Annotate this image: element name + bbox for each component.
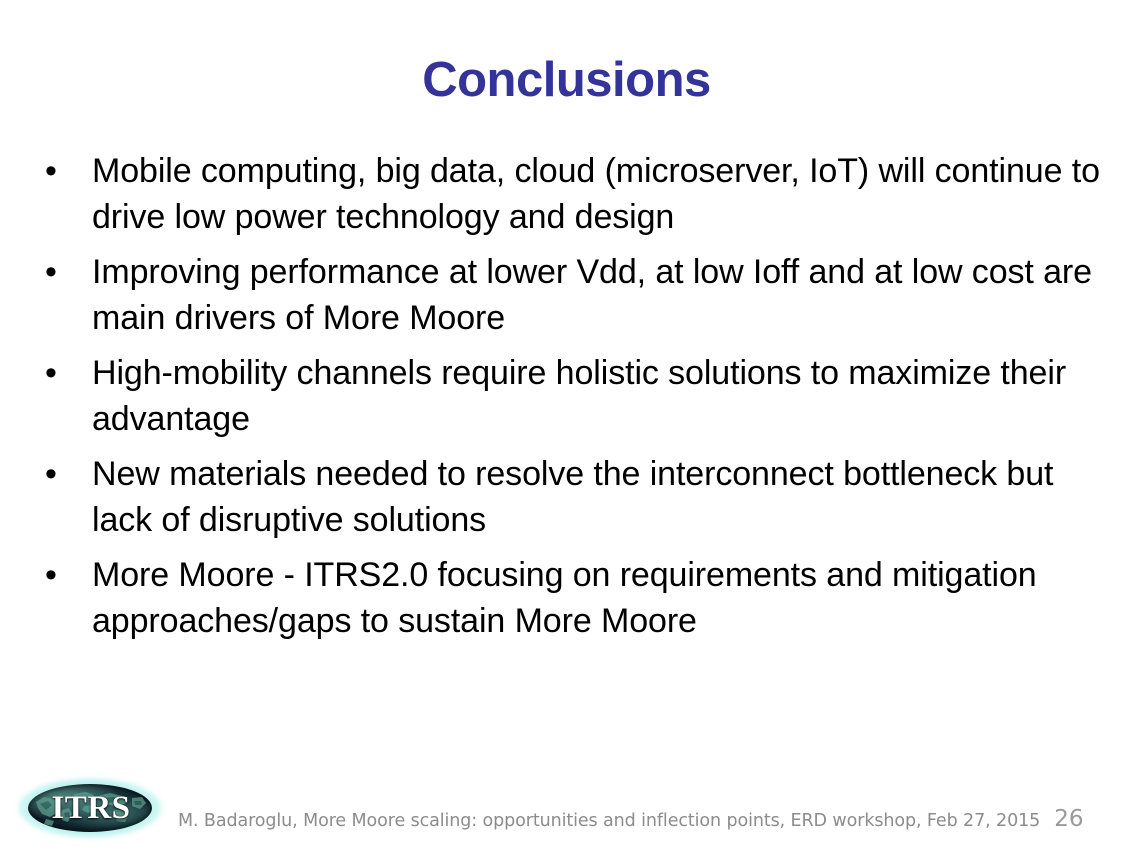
bullet-point-icon: • xyxy=(45,350,65,396)
list-item-text: High-mobility channels require holistic … xyxy=(92,350,1106,442)
bullet-point-icon: • xyxy=(45,249,65,295)
page-number: 26 xyxy=(1054,806,1083,832)
list-item-text: More Moore - ITRS2.0 focusing on require… xyxy=(92,552,1106,644)
bullet-point-icon: • xyxy=(45,451,65,497)
list-item-text: Improving performance at lower Vdd, at l… xyxy=(92,249,1106,341)
logo-text: ITRS xyxy=(14,784,166,832)
list-item-text: New materials needed to resolve the inte… xyxy=(92,451,1106,543)
list-item-text: Mobile computing, big data, cloud (micro… xyxy=(92,148,1106,240)
slide: Conclusions • Mobile computing, big data… xyxy=(0,0,1133,850)
itrs-logo: ITRS xyxy=(14,775,166,841)
list-item: • More Moore - ITRS2.0 focusing on requi… xyxy=(36,552,1106,644)
footer: M. Badaroglu, More Moore scaling: opport… xyxy=(178,806,1083,832)
bullet-point-icon: • xyxy=(45,148,65,194)
bullet-point-icon: • xyxy=(45,552,65,598)
list-item: • Mobile computing, big data, cloud (mic… xyxy=(36,148,1106,240)
footer-credit: M. Badaroglu, More Moore scaling: opport… xyxy=(178,811,1040,831)
list-item: • High-mobility channels require holisti… xyxy=(36,350,1106,442)
page-title: Conclusions xyxy=(0,55,1133,106)
bullet-list: • Mobile computing, big data, cloud (mic… xyxy=(36,148,1106,653)
list-item: • Improving performance at lower Vdd, at… xyxy=(36,249,1106,341)
list-item: • New materials needed to resolve the in… xyxy=(36,451,1106,543)
